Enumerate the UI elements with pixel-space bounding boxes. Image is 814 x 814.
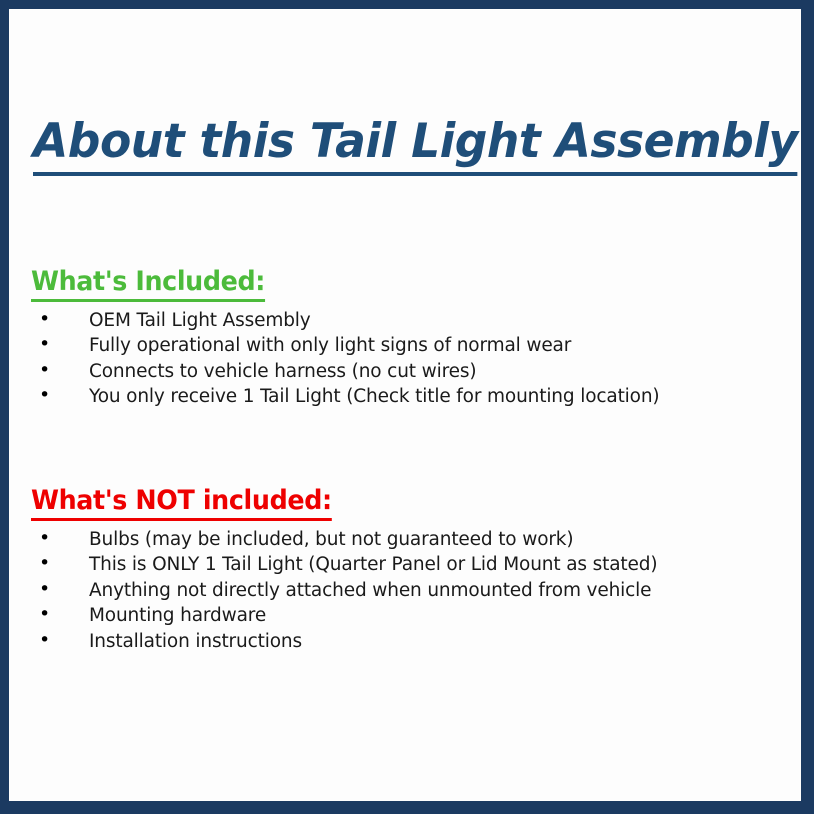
card-content: About this Tail Light Assembly What's In… (9, 9, 801, 801)
list-item: Connects to vehicle harness (no cut wire… (9, 359, 801, 384)
not-included-list: Bulbs (may be included, but not guarante… (9, 527, 801, 654)
list-item: OEM Tail Light Assembly (9, 308, 801, 333)
section-included: What's Included: OEM Tail Light Assembly… (9, 265, 801, 410)
section-heading-included: What's Included: (31, 265, 265, 302)
border-right (801, 0, 814, 814)
list-item: You only receive 1 Tail Light (Check tit… (9, 384, 801, 409)
border-left (0, 0, 9, 806)
border-bottom (0, 801, 814, 814)
list-item: Anything not directly attached when unmo… (9, 578, 801, 603)
listing-info-card: About this Tail Light Assembly What's In… (0, 0, 814, 814)
list-item: Fully operational with only light signs … (9, 333, 801, 358)
section-heading-not-included: What's NOT included: (31, 484, 332, 521)
list-item: Mounting hardware (9, 603, 801, 628)
list-item: Installation instructions (9, 629, 801, 654)
border-top (0, 0, 814, 9)
included-list: OEM Tail Light Assembly Fully operationa… (9, 308, 801, 410)
list-item: This is ONLY 1 Tail Light (Quarter Panel… (9, 552, 801, 577)
page-title: About this Tail Light Assembly (33, 113, 798, 176)
list-item: Bulbs (may be included, but not guarante… (9, 527, 801, 552)
section-not-included: What's NOT included: Bulbs (may be inclu… (9, 484, 801, 654)
